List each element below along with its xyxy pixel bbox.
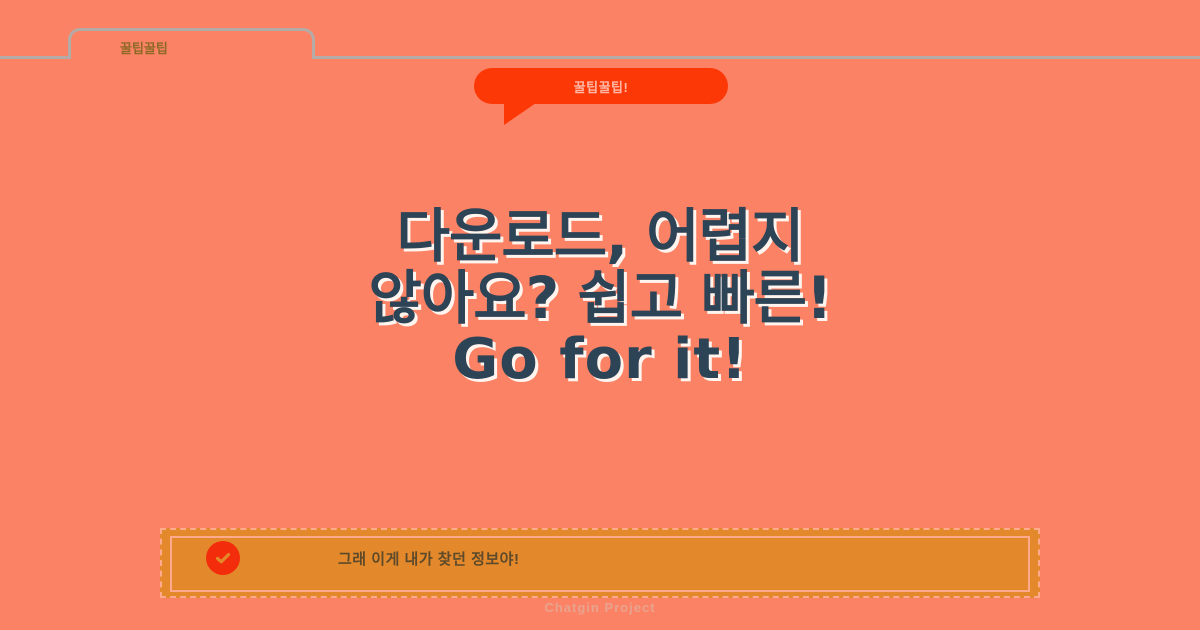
callout-banner[interactable]: 그래 이게 내가 찾던 정보야! [160,528,1040,598]
speech-bubble-badge[interactable]: 꿀팁꿀팁! [474,68,728,104]
top-rule-right [312,56,1200,59]
headline-line-2: 않아요? 쉽고 빠른! [0,267,1200,329]
callout-inner-border [170,536,1030,592]
top-tab-frame [0,28,1200,62]
speech-bubble-label: 꿀팁꿀팁! [574,77,629,96]
speech-bubble-body: 꿀팁꿀팁! [474,68,728,104]
footer-brand: Chatgin Project [0,600,1200,615]
callout-label: 그래 이게 내가 찾던 정보야! [338,530,519,586]
page-title: 다운로드, 어렵지 않아요? 쉽고 빠른! Go for it! [0,205,1200,391]
top-rule-left [0,56,68,59]
headline-line-3: Go for it! [0,329,1200,391]
headline-line-1: 다운로드, 어렵지 [0,205,1200,267]
check-circle-icon [206,541,240,575]
top-tab-label: 꿀팁꿀팁 [120,38,168,57]
speech-bubble-tail-icon [504,103,536,125]
top-tab-outline[interactable] [68,28,315,59]
